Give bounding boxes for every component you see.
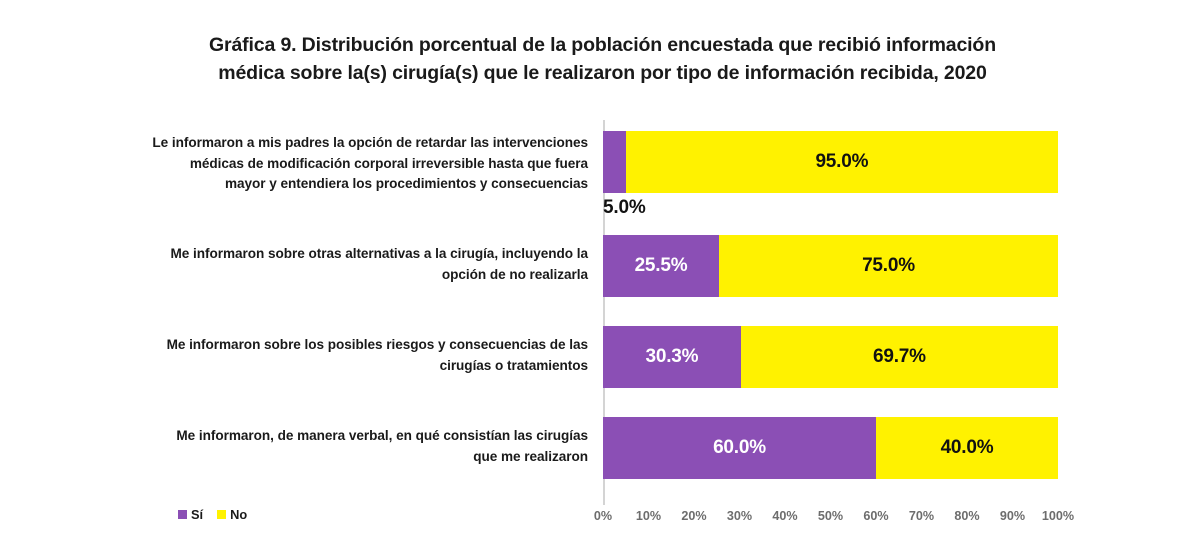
table-row[interactable]: 95.0% 5.0% <box>603 131 1058 193</box>
bar-value-no-4: 40.0% <box>941 437 994 459</box>
legend-item-si[interactable]: Sí <box>178 507 203 522</box>
chart-title: Gráfica 9. Distribución porcentual de la… <box>120 32 1085 87</box>
bar-value-no-3: 69.7% <box>873 346 926 368</box>
bar-value-si-4: 60.0% <box>713 437 766 459</box>
category-label-2-line-2: opción de no realizarla <box>128 265 588 286</box>
stacked-bar-2: 25.5% 75.0% <box>603 235 1058 297</box>
x-tick-90: 90% <box>1000 509 1025 523</box>
x-tick-30: 30% <box>727 509 752 523</box>
x-tick-40: 40% <box>772 509 797 523</box>
bar-segment-no-1[interactable]: 95.0% <box>626 131 1058 193</box>
category-label-1: Le informaron a mis padres la opción de … <box>128 133 588 195</box>
legend-label-no: No <box>230 507 247 522</box>
chart-title-line-2: médica sobre la(s) cirugía(s) que le rea… <box>120 60 1085 88</box>
bar-segment-no-2[interactable]: 75.0% <box>719 235 1058 297</box>
bar-value-no-2: 75.0% <box>862 255 915 277</box>
category-axis-labels: Le informaron a mis padres la opción de … <box>128 120 588 505</box>
bar-segment-no-3[interactable]: 69.7% <box>741 326 1058 388</box>
bar-segment-no-4[interactable]: 40.0% <box>876 417 1058 479</box>
category-label-3-line-2: cirugías o tratamientos <box>128 356 588 377</box>
bar-segment-si-3[interactable]: 30.3% <box>603 326 741 388</box>
legend-label-si: Sí <box>191 507 203 522</box>
category-label-1-line-1: Le informaron a mis padres la opción de … <box>128 133 588 154</box>
table-row[interactable]: 60.0% 40.0% <box>603 417 1058 479</box>
chart-legend: Sí No <box>178 507 247 522</box>
category-label-4-line-1: Me informaron, de manera verbal, en qué … <box>128 426 588 447</box>
stacked-bar-1: 95.0% <box>603 131 1058 193</box>
x-tick-60: 60% <box>863 509 888 523</box>
bar-value-si-1: 5.0% <box>603 197 646 219</box>
legend-item-no[interactable]: No <box>217 507 247 522</box>
chart-title-line-1: Gráfica 9. Distribución porcentual de la… <box>120 32 1085 60</box>
legend-swatch-no-icon <box>217 510 226 519</box>
x-tick-50: 50% <box>818 509 843 523</box>
stacked-bar-3: 30.3% 69.7% <box>603 326 1058 388</box>
plot-area: 95.0% 5.0% 25.5% 75.0% 30.3% 69.7% <box>603 120 1058 505</box>
bar-value-si-3: 30.3% <box>645 346 698 368</box>
x-tick-10: 10% <box>636 509 661 523</box>
category-label-1-line-3: mayor y entendiera los procedimientos y … <box>128 174 588 195</box>
bar-segment-si-1[interactable] <box>603 131 626 193</box>
category-label-4: Me informaron, de manera verbal, en qué … <box>128 426 588 467</box>
x-tick-80: 80% <box>954 509 979 523</box>
table-row[interactable]: 25.5% 75.0% <box>603 235 1058 297</box>
stacked-bar-4: 60.0% 40.0% <box>603 417 1058 479</box>
bar-segment-si-2[interactable]: 25.5% <box>603 235 719 297</box>
bar-value-no-1: 95.0% <box>815 151 868 173</box>
x-tick-20: 20% <box>681 509 706 523</box>
category-label-4-line-2: que me realizaron <box>128 447 588 468</box>
bar-segment-si-4[interactable]: 60.0% <box>603 417 876 479</box>
category-label-3: Me informaron sobre los posibles riesgos… <box>128 335 588 376</box>
category-label-2: Me informaron sobre otras alternativas a… <box>128 244 588 285</box>
x-axis-ticks: 0% 10% 20% 30% 40% 50% 60% 70% 80% 90% 1… <box>603 509 1058 531</box>
category-label-3-line-1: Me informaron sobre los posibles riesgos… <box>128 335 588 356</box>
category-label-2-line-1: Me informaron sobre otras alternativas a… <box>128 244 588 265</box>
category-label-1-line-2: médicas de modificación corporal irrever… <box>128 154 588 175</box>
legend-swatch-si-icon <box>178 510 187 519</box>
x-tick-0: 0% <box>594 509 612 523</box>
x-tick-100: 100% <box>1042 509 1074 523</box>
table-row[interactable]: 30.3% 69.7% <box>603 326 1058 388</box>
x-tick-70: 70% <box>909 509 934 523</box>
bar-value-si-2: 25.5% <box>635 255 688 277</box>
